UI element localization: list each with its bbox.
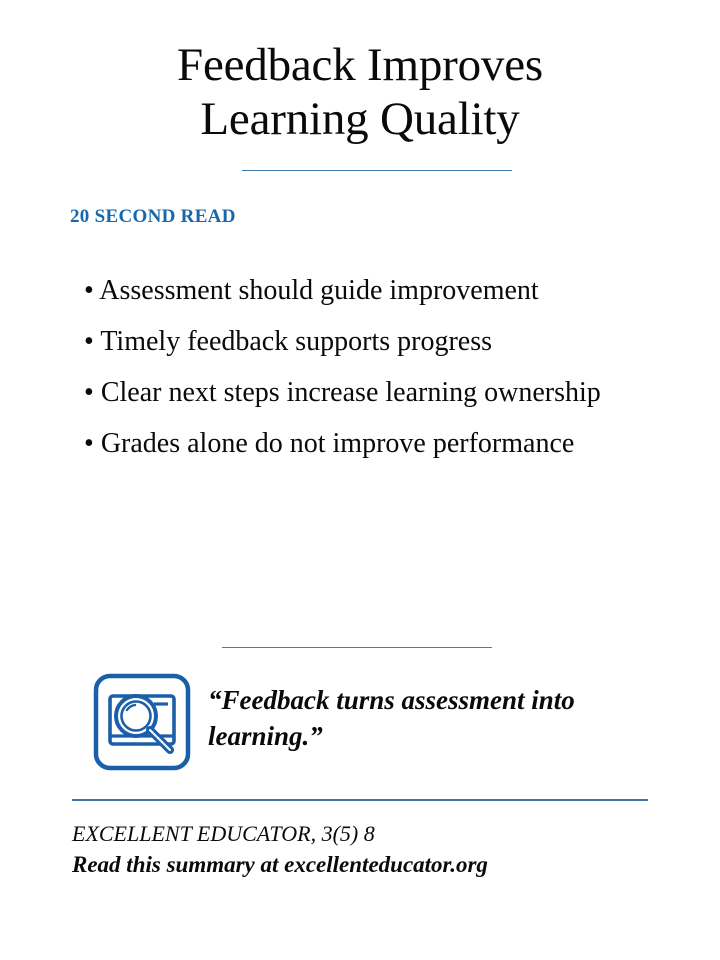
quote-text: “Feedback turns assessment into learning…: [208, 672, 662, 754]
list-item: • Grades alone do not improve performanc…: [84, 421, 654, 466]
citation-text: EXCELLENT EDUCATOR, 3(5) 8: [72, 818, 672, 849]
list-item-label: Grades alone do not improve performance: [101, 428, 574, 459]
list-item: • Timely feedback supports progress: [84, 319, 654, 364]
page-title: Feedback Improves Learning Quality: [0, 38, 720, 146]
list-item-label: Clear next steps increase learning owner…: [101, 377, 601, 408]
read-time-label: 20 SECOND READ: [70, 205, 236, 229]
summary-card: Feedback Improves Learning Quality 20 SE…: [0, 0, 720, 960]
title-divider: [242, 170, 512, 171]
bullet-marker: •: [84, 275, 94, 306]
list-item-label: Assessment should guide improvement: [99, 275, 538, 306]
quote-block: “Feedback turns assessment into learning…: [92, 672, 662, 772]
footer-divider: [72, 799, 648, 801]
title-line-1: Feedback Improves: [0, 38, 720, 92]
footer: EXCELLENT EDUCATOR, 3(5) 8 Read this sum…: [72, 818, 672, 881]
section-divider: [222, 647, 492, 648]
bullet-marker: •: [84, 428, 94, 459]
key-points-list: • Assessment should guide improvement • …: [84, 268, 654, 472]
document-magnifier-icon: [92, 672, 192, 772]
list-item-label: Timely feedback supports progress: [100, 326, 492, 357]
bullet-marker: •: [84, 326, 94, 357]
bullet-marker: •: [84, 377, 94, 408]
title-line-2: Learning Quality: [0, 92, 720, 146]
source-link-text[interactable]: Read this summary at excellenteducator.o…: [72, 849, 672, 881]
list-item: • Assessment should guide improvement: [84, 268, 654, 313]
list-item: • Clear next steps increase learning own…: [84, 370, 654, 415]
